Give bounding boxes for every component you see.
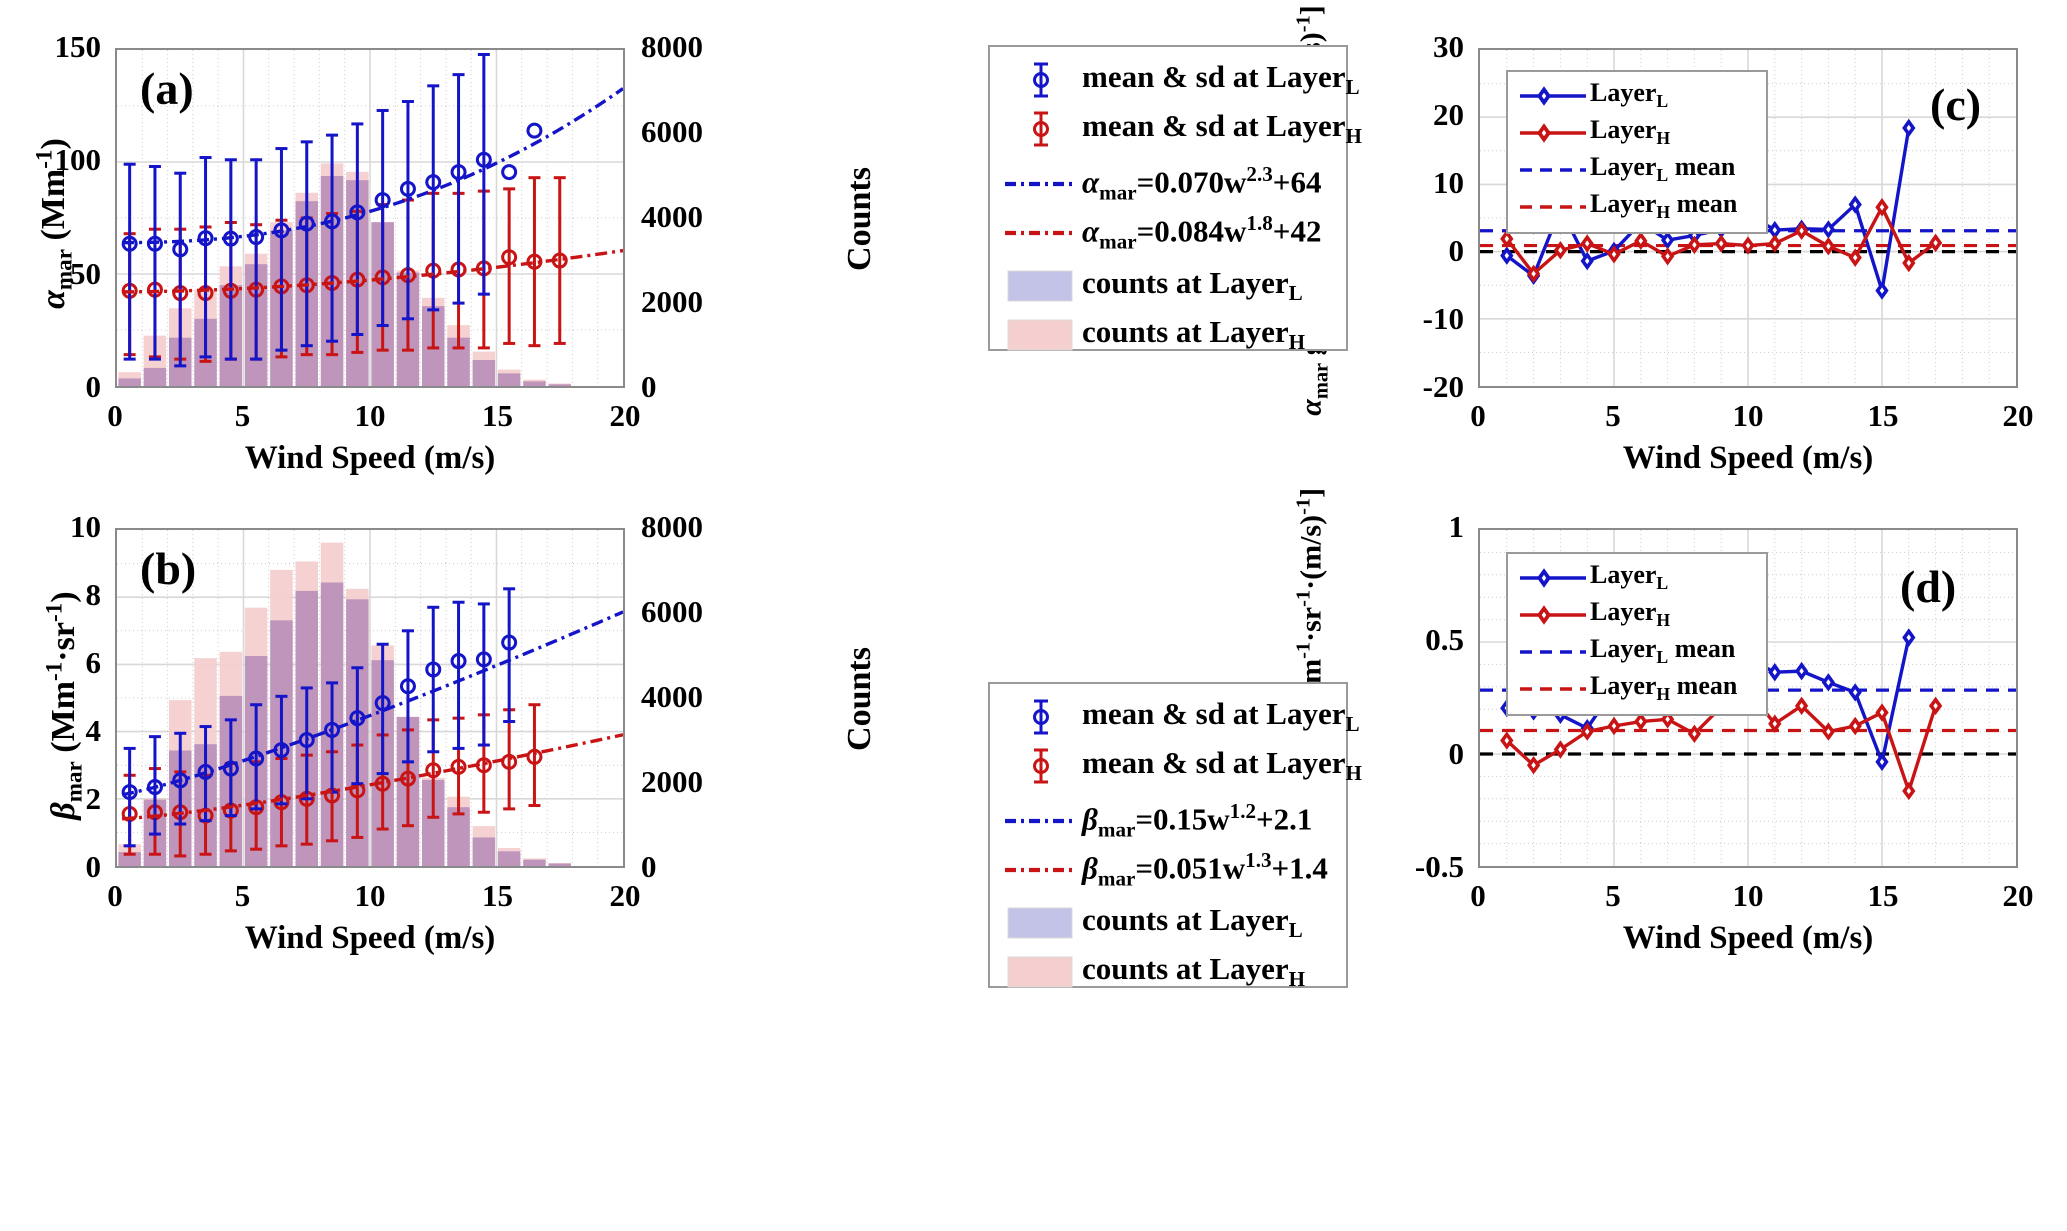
dashdot-legend-symbol <box>1002 163 1080 205</box>
legend-panel-c-item-3-label: LayerH mean <box>1590 189 1737 223</box>
legend-b-item-1-symbol <box>1000 745 1082 787</box>
legend-b-item-0-symbol <box>1000 696 1082 738</box>
legend-panel-d-item-3-label: LayerH mean <box>1590 671 1737 705</box>
panel-b-xtick-0: 0 <box>55 878 175 914</box>
panel-a-ytick-left-3: 150 <box>0 29 101 65</box>
legend-a-item-4-symbol <box>1000 265 1082 307</box>
legend-panel-c-item-1-symbol <box>1516 118 1590 148</box>
legend-b-item-4: counts at LayerL <box>1000 898 1336 947</box>
legend-b-item-2-label: βmar=0.15w1.2+2.1 <box>1082 799 1312 843</box>
legend-panel-c-item-2-symbol <box>1516 155 1590 185</box>
panel-b-ytick-right-3: 6000 <box>641 594 703 630</box>
legend-a-item-4: counts at LayerL <box>1000 261 1336 310</box>
legend-panel-d-item-2-label: LayerL mean <box>1590 634 1735 668</box>
panel-a-xtick-0: 0 <box>55 398 175 434</box>
panel-c-ytick-3: 10 <box>1344 165 1464 201</box>
legend-panel-d: LayerLLayerHLayerL meanLayerH mean <box>1506 552 1768 716</box>
panel-d-xtick-1: 5 <box>1553 878 1673 914</box>
legend-a-item-5: counts at LayerH <box>1000 310 1336 359</box>
panel-a-letter: (a) <box>140 62 194 115</box>
legend-b-item-1-label: mean & sd at LayerH <box>1082 745 1362 786</box>
panel-a-xtick-3: 15 <box>438 398 558 434</box>
panel-c-xtick-4: 20 <box>1958 398 2067 434</box>
legend-b-item-4-symbol <box>1000 902 1082 944</box>
panel-b-xtick-4: 20 <box>565 878 685 914</box>
errorbar-legend-symbol <box>1002 696 1080 738</box>
dashdot-legend-symbol <box>1002 800 1080 842</box>
legend-panel-c-item-3: LayerH mean <box>1516 188 1758 225</box>
panel-d-xtick-2: 10 <box>1688 878 1808 914</box>
legend-b-item-3-label: βmar=0.051w1.3+1.4 <box>1082 848 1328 892</box>
legend-a-item-2-label: αmar=0.070w2.3+64 <box>1082 162 1321 206</box>
dashdot-legend-symbol <box>1002 849 1080 891</box>
legend-b-item-3-symbol <box>1000 849 1082 891</box>
panel-b-ylabel-right: Counts <box>841 599 879 799</box>
legend-panel-d-item-2: LayerL mean <box>1516 633 1758 670</box>
legend-panel-d-item-0-label: LayerL <box>1590 560 1668 594</box>
figure-root: (a) (b) (c) (d) 050100150020004000600080… <box>0 0 2067 1231</box>
legend-panel-c-item-2-label: LayerL mean <box>1590 152 1735 186</box>
panel-c-ytick-5: 30 <box>1344 29 1464 65</box>
legend-panel-c-item-1-label: LayerH <box>1590 115 1670 149</box>
legend-a-item-0-symbol <box>1000 59 1082 101</box>
legend-a-item-4-label: counts at LayerL <box>1082 265 1303 306</box>
legend-b-item-5-symbol <box>1000 951 1082 993</box>
legend-b-item-1: mean & sd at LayerH <box>1000 741 1336 790</box>
panel-c-xtick-1: 5 <box>1553 398 1673 434</box>
panel-d-ytick-3: 1 <box>1344 509 1464 545</box>
patch-legend-symbol <box>1002 314 1080 356</box>
panel-c-xtick-3: 15 <box>1823 398 1943 434</box>
panel-d-ytick-2: 0.5 <box>1344 622 1464 658</box>
panel-d-xlabel: Wind Speed (m/s) <box>1568 920 1928 957</box>
panel-b-xtick-3: 15 <box>438 878 558 914</box>
legend-panel-c-item-0-symbol <box>1516 81 1590 111</box>
legend-panel-d-item-2-symbol <box>1516 637 1590 667</box>
panel-b-xtick-1: 5 <box>183 878 303 914</box>
panel-c-letter: (c) <box>1930 78 1981 131</box>
panel-a-ytick-right-4: 8000 <box>641 29 703 65</box>
legend-panel-c-item-3-symbol <box>1516 192 1590 222</box>
legend-a-item-3-symbol <box>1000 212 1082 254</box>
legend-b-item-5: counts at LayerH <box>1000 947 1336 996</box>
panel-d-xtick-4: 20 <box>1958 878 2067 914</box>
legend-a-item-1: mean & sd at LayerH <box>1000 104 1336 153</box>
legend-b-item-0-label: mean & sd at LayerL <box>1082 696 1360 737</box>
legend-b-item-4-label: counts at LayerL <box>1082 902 1303 943</box>
legend-panel-d-item-0-symbol <box>1516 563 1590 593</box>
patch-legend-symbol <box>1002 951 1080 993</box>
panel-b-xlabel: Wind Speed (m/s) <box>190 920 550 957</box>
dashdot-legend-symbol <box>1002 212 1080 254</box>
patch-legend-symbol <box>1002 902 1080 944</box>
panel-b-ytick-left-5: 10 <box>0 509 101 545</box>
panel-a-ytick-right-3: 6000 <box>641 114 703 150</box>
panel-c-ytick-1: -10 <box>1344 301 1464 337</box>
errorbar-legend-symbol <box>1002 745 1080 787</box>
legend-panel-d-item-1-symbol <box>1516 600 1590 630</box>
legend-panel-d-item-1-label: LayerH <box>1590 597 1670 631</box>
legend-b-item-3: βmar=0.051w1.3+1.4 <box>1000 845 1336 894</box>
legend-b-item-5-label: counts at LayerH <box>1082 951 1305 992</box>
legend-panel-c-item-0: LayerL <box>1516 77 1758 114</box>
panel-a-ytick-right-1: 2000 <box>641 284 703 320</box>
panel-c-xlabel: Wind Speed (m/s) <box>1568 440 1928 477</box>
legend-panel-d-item-0: LayerL <box>1516 559 1758 596</box>
panel-b-ytick-right-2: 4000 <box>641 679 703 715</box>
panel-b-letter: (b) <box>140 542 196 595</box>
panel-a-xlabel: Wind Speed (m/s) <box>190 440 550 477</box>
panel-b-xtick-2: 10 <box>310 878 430 914</box>
panel-a-ytick-right-2: 4000 <box>641 199 703 235</box>
legend-b-item-2: βmar=0.15w1.2+2.1 <box>1000 796 1336 845</box>
panel-c-ytick-2: 0 <box>1344 233 1464 269</box>
legend-a-item-3: αmar=0.084w1.8+42 <box>1000 208 1336 257</box>
panel-c-xtick-2: 10 <box>1688 398 1808 434</box>
legend-panel-b: mean & sd at LayerLmean & sd at LayerHβm… <box>988 682 1348 988</box>
panel-d-ytick-1: 0 <box>1344 736 1464 772</box>
panel-b-ytick-right-1: 2000 <box>641 764 703 800</box>
panel-a-ylabel-right: Counts <box>841 119 879 319</box>
legend-a-item-5-symbol <box>1000 314 1082 356</box>
legend-a-item-2-symbol <box>1000 163 1082 205</box>
legend-a-item-0-label: mean & sd at LayerL <box>1082 59 1360 100</box>
patch-legend-symbol <box>1002 265 1080 307</box>
legend-panel-d-item-1: LayerH <box>1516 596 1758 633</box>
panel-d-xtick-0: 0 <box>1418 878 1538 914</box>
legend-a-item-5-label: counts at LayerH <box>1082 314 1305 355</box>
panel-a-xtick-1: 5 <box>183 398 303 434</box>
errorbar-legend-symbol <box>1002 59 1080 101</box>
legend-panel-c-item-1: LayerH <box>1516 114 1758 151</box>
panel-a-xtick-2: 10 <box>310 398 430 434</box>
legend-a-item-1-label: mean & sd at LayerH <box>1082 108 1362 149</box>
legend-b-item-2-symbol <box>1000 800 1082 842</box>
panel-b-ylabel-left: βmar (Mm-1·sr-1) <box>41 566 88 846</box>
legend-panel-a: mean & sd at LayerLmean & sd at LayerHαm… <box>988 45 1348 351</box>
panel-b-ytick-right-4: 8000 <box>641 509 703 545</box>
legend-a-item-1-symbol <box>1000 108 1082 150</box>
errorbar-legend-symbol <box>1002 108 1080 150</box>
legend-panel-c-item-0-label: LayerL <box>1590 78 1668 112</box>
legend-a-item-2: αmar=0.070w2.3+64 <box>1000 159 1336 208</box>
panel-c-ytick-4: 20 <box>1344 97 1464 133</box>
panel-a-xtick-4: 20 <box>565 398 685 434</box>
panel-a-ylabel-left: αmar (Mm-1) <box>31 114 78 334</box>
legend-a-item-3-label: αmar=0.084w1.8+42 <box>1082 211 1321 255</box>
panel-d-xtick-3: 15 <box>1823 878 1943 914</box>
legend-panel-c: LayerLLayerHLayerL meanLayerH mean <box>1506 70 1768 234</box>
legend-b-item-0: mean & sd at LayerL <box>1000 692 1336 741</box>
panel-c-xtick-0: 0 <box>1418 398 1538 434</box>
legend-panel-d-item-3: LayerH mean <box>1516 670 1758 707</box>
legend-panel-d-item-3-symbol <box>1516 674 1590 704</box>
panel-d-letter: (d) <box>1900 560 1956 613</box>
legend-panel-c-item-2: LayerL mean <box>1516 151 1758 188</box>
legend-a-item-0: mean & sd at LayerL <box>1000 55 1336 104</box>
